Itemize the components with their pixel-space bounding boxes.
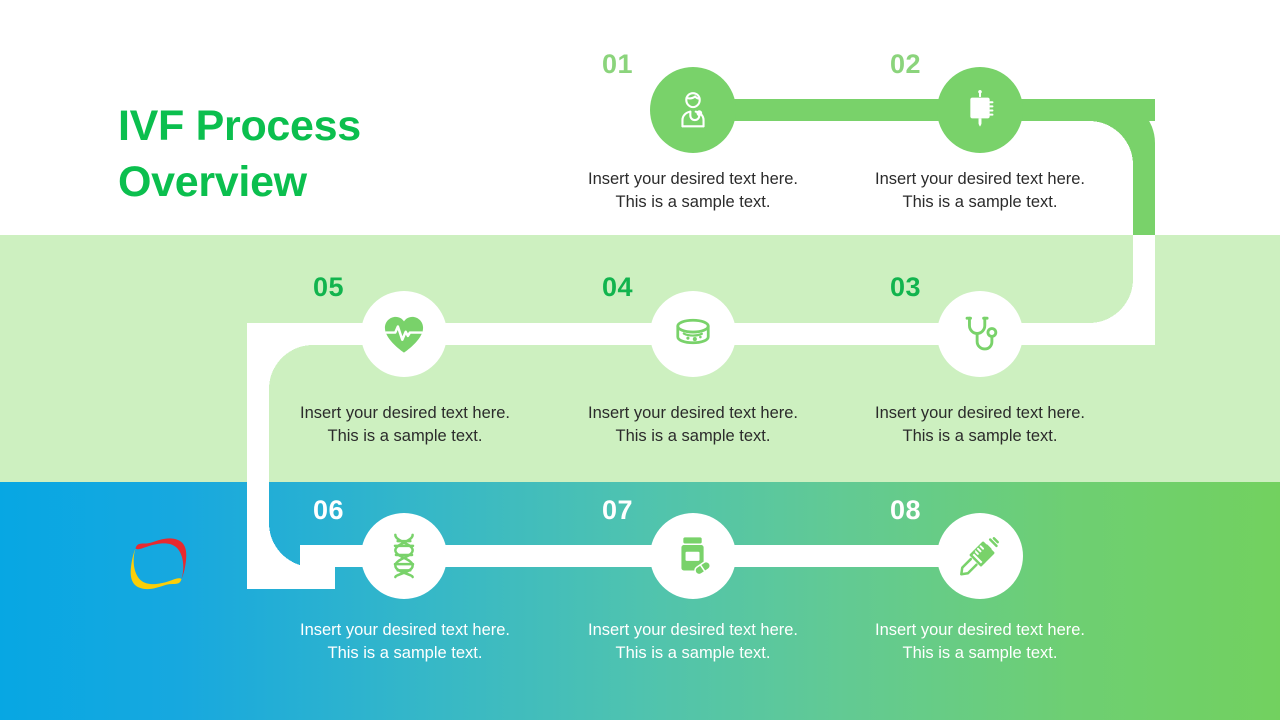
step-icon-circle-08[interactable] xyxy=(937,513,1023,599)
step-caption-06: Insert your desired text here. This is a… xyxy=(265,619,545,665)
step-caption-03: Insert your desired text here. This is a… xyxy=(840,402,1120,448)
step-number-03: 03 xyxy=(890,274,921,301)
syringe-icon xyxy=(957,533,1003,579)
step-number-04: 04 xyxy=(602,274,633,301)
step-icon-circle-05[interactable] xyxy=(361,291,447,377)
connector-elbow-top-right xyxy=(1089,99,1155,235)
slide-canvas: IVF Process Overview 01 Insert your de xyxy=(0,0,1280,720)
step-caption-01: Insert your desired text here. This is a… xyxy=(553,168,833,214)
doctor-icon xyxy=(670,87,716,133)
connector-row1 xyxy=(693,99,1155,121)
step-number-06: 06 xyxy=(313,497,344,524)
step-number-08: 08 xyxy=(890,497,921,524)
step-icon-circle-02[interactable] xyxy=(937,67,1023,153)
iv-drip-bag-icon xyxy=(959,87,1001,133)
brand-logo xyxy=(118,524,200,606)
step-icon-circle-01[interactable] xyxy=(650,67,736,153)
step-caption-07: Insert your desired text here. This is a… xyxy=(553,619,833,665)
step-icon-circle-04[interactable] xyxy=(650,291,736,377)
step-number-02: 02 xyxy=(890,51,921,78)
step-number-05: 05 xyxy=(313,274,344,301)
stethoscope-icon xyxy=(957,311,1003,357)
step-icon-circle-03[interactable] xyxy=(937,291,1023,377)
step-caption-04: Insert your desired text here. This is a… xyxy=(553,402,833,448)
page-title: IVF Process Overview xyxy=(118,98,538,210)
step-icon-circle-07[interactable] xyxy=(650,513,736,599)
step-number-07: 07 xyxy=(602,497,633,524)
step-number-01: 01 xyxy=(602,51,633,78)
step-icon-circle-06[interactable] xyxy=(361,513,447,599)
dna-helix-icon xyxy=(386,532,422,580)
heart-pulse-icon xyxy=(381,313,427,355)
petri-dish-icon xyxy=(669,314,717,354)
step-caption-08: Insert your desired text here. This is a… xyxy=(840,619,1120,665)
pill-bottle-icon xyxy=(671,533,715,579)
step-caption-02: Insert your desired text here. This is a… xyxy=(840,168,1120,214)
step-caption-05: Insert your desired text here. This is a… xyxy=(265,402,545,448)
